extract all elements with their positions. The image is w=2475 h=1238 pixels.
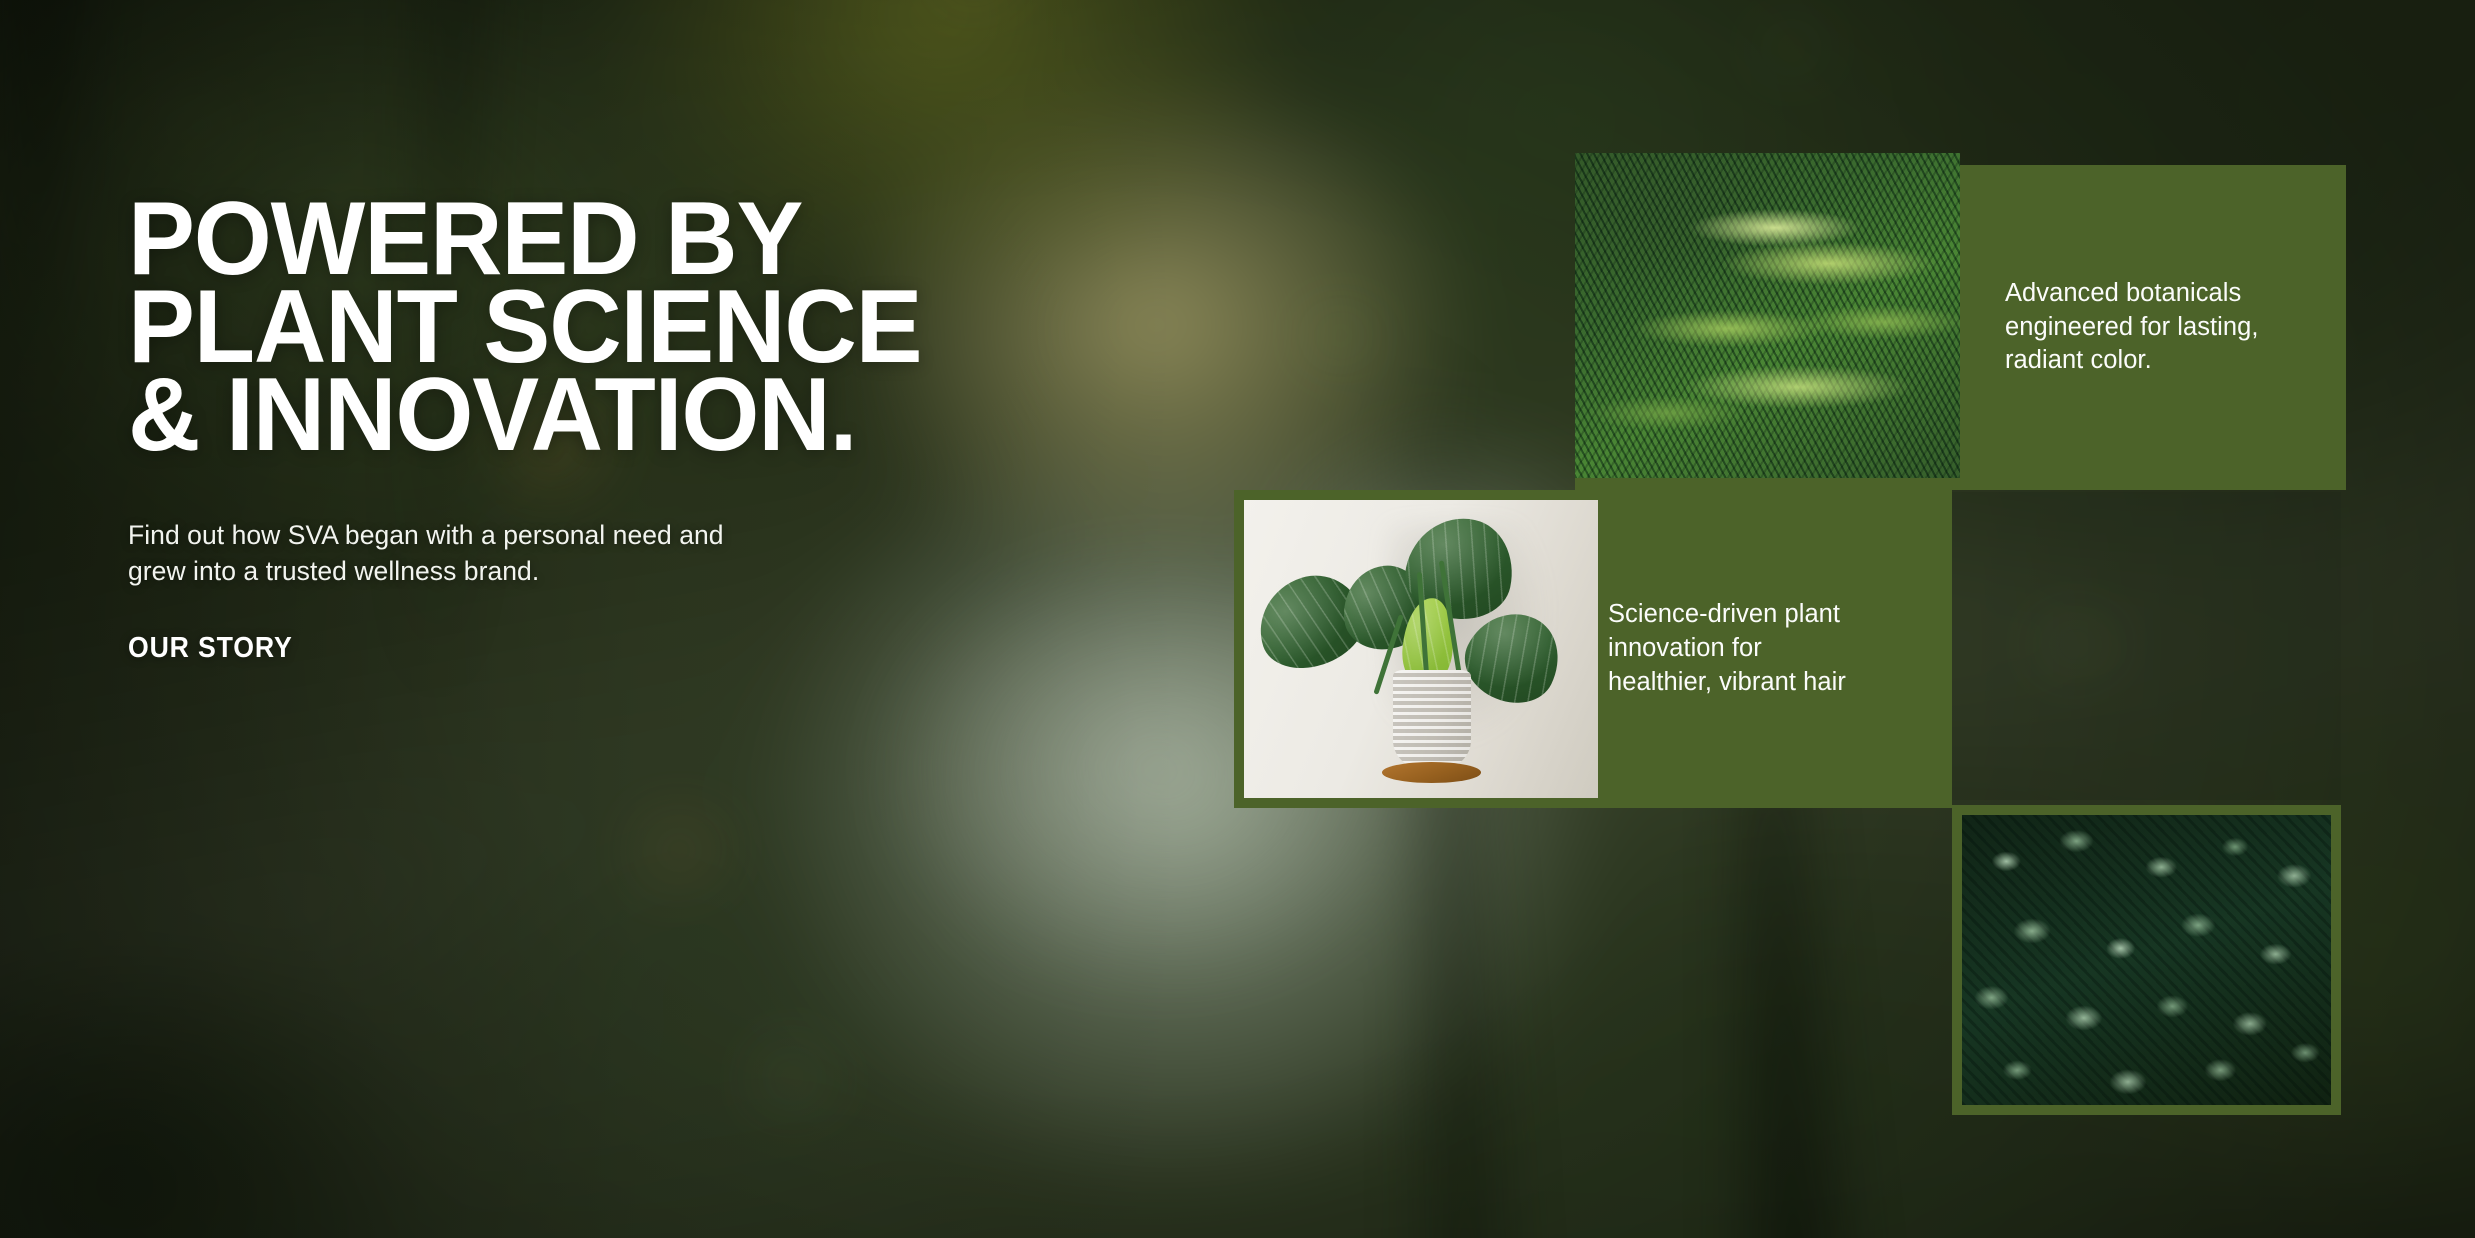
image-foliage-soft[interactable] [1952, 492, 2341, 800]
panel-advanced-botanicals-text: Advanced botanicals engineered for lasti… [2005, 277, 2259, 379]
subcopy-line-2: grew into a trusted wellness brand. [128, 553, 1188, 590]
image-monstera-pot[interactable] [1234, 490, 1608, 808]
image-collage: Advanced botanicals engineered for lasti… [1234, 165, 2346, 1115]
page-title: POWERED BY PLANT SCIENCE & INNOVATION. [128, 196, 1151, 460]
subcopy-line-1: Find out how SVA began with a personal n… [128, 517, 1188, 554]
panel-science-driven-text: Science-driven plant innovation for heal… [1608, 598, 1846, 700]
hero-copy-block: POWERED BY PLANT SCIENCE & INNOVATION. F… [128, 196, 1188, 665]
hero-subcopy: Find out how SVA began with a personal n… [128, 517, 1188, 590]
headline-line-3: & INNOVATION. [128, 372, 1151, 460]
our-story-link[interactable]: OUR STORY [128, 632, 293, 665]
image-ground-ivy[interactable] [1952, 805, 2341, 1115]
image-palm-fronds[interactable] [1575, 153, 1960, 478]
